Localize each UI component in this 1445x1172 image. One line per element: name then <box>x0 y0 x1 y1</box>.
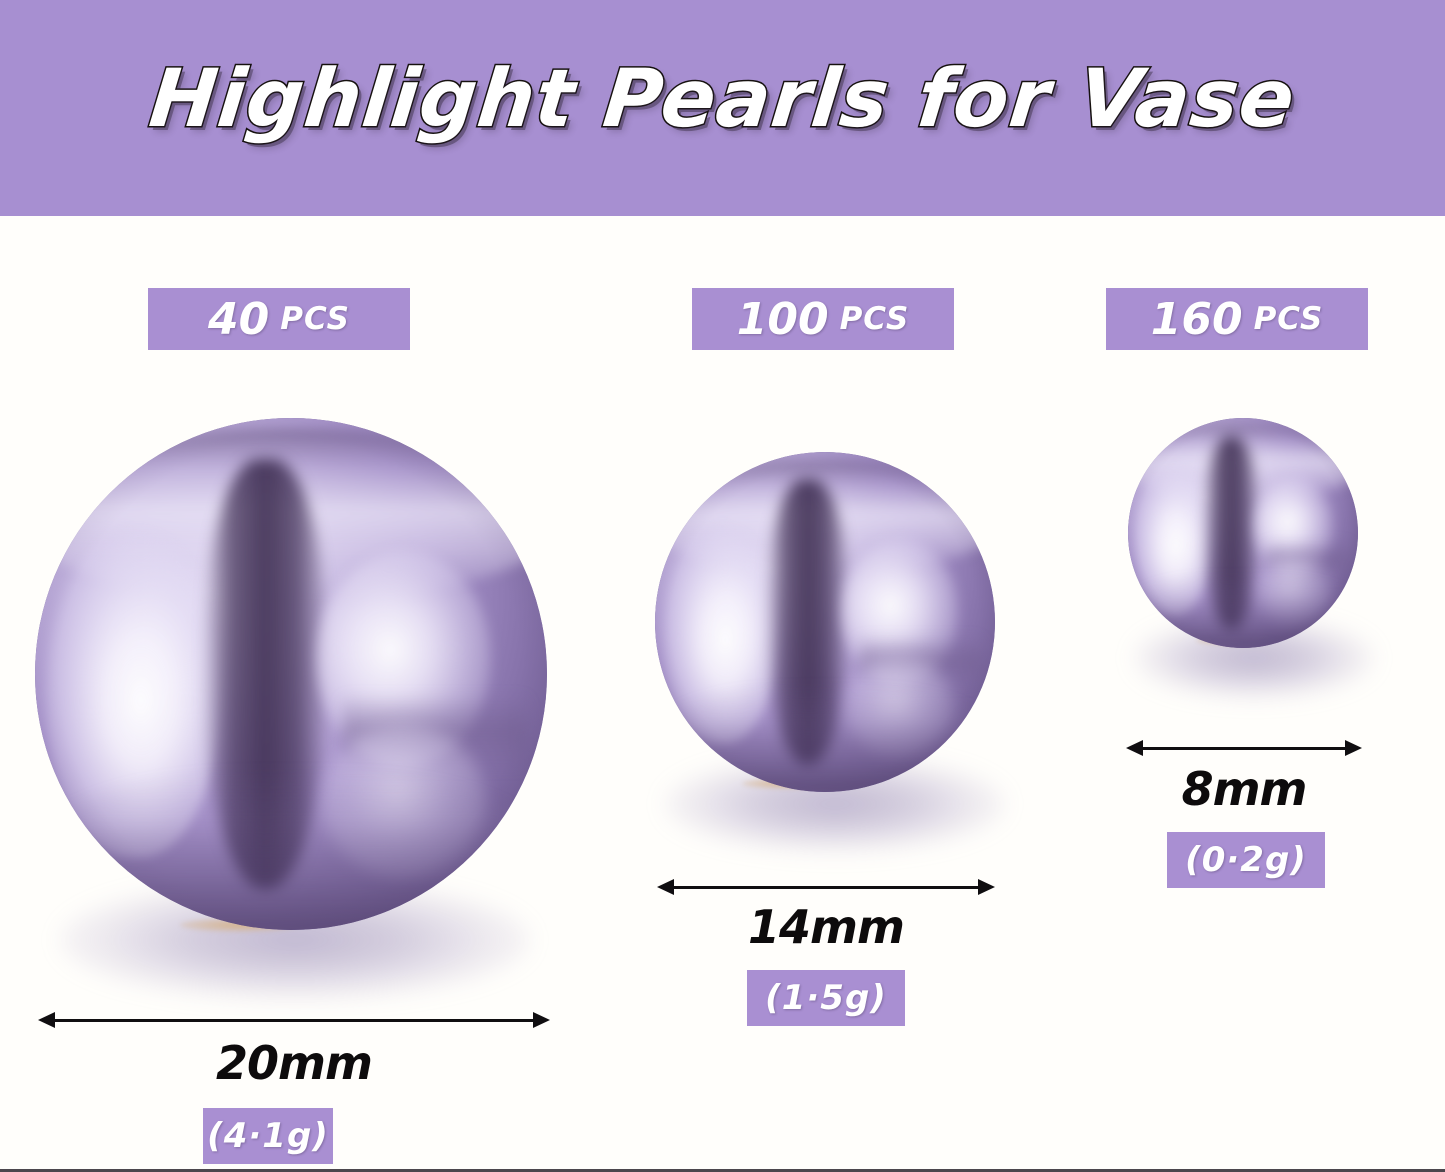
count-number-8mm: 160 <box>1151 294 1243 345</box>
dimension-arrow-8mm <box>1126 736 1362 760</box>
count-unit-20mm: PCS <box>280 301 350 337</box>
arrow-line <box>1136 747 1352 750</box>
dimension-arrow-14mm <box>657 875 995 899</box>
arrow-head-right-icon <box>533 1012 550 1028</box>
count-unit-14mm: PCS <box>840 301 910 337</box>
count-badge-20mm: 40 PCS <box>148 288 410 350</box>
pearl-rim-vignette <box>655 452 995 792</box>
count-badge-14mm: 100 PCS <box>692 288 954 350</box>
arrow-head-right-icon <box>978 879 995 895</box>
header-banner: Highlight Pearls for Vase <box>0 0 1445 216</box>
weight-badge-20mm: (4·1g) <box>203 1108 333 1164</box>
weight-badge-14mm: (1·5g) <box>747 970 905 1026</box>
count-number-20mm: 40 <box>208 294 269 345</box>
diameter-label-20mm: 20mm <box>38 1036 550 1090</box>
page-title: Highlight Pearls for Vase <box>0 52 1445 145</box>
pearl-sphere-20mm <box>35 418 547 930</box>
diameter-label-8mm: 8mm <box>1126 762 1362 816</box>
pearl-rim-vignette <box>1128 418 1358 648</box>
dimension-arrow-20mm <box>38 1008 550 1032</box>
diameter-label-14mm: 14mm <box>657 900 995 954</box>
pearl-sphere-14mm <box>655 452 995 792</box>
count-unit-8mm: PCS <box>1254 301 1324 337</box>
arrow-line <box>667 886 985 889</box>
weight-badge-8mm: (0·2g) <box>1167 832 1325 888</box>
pearl-sphere-8mm <box>1128 418 1358 648</box>
count-badge-8mm: 160 PCS <box>1106 288 1368 350</box>
pearl-rim-vignette <box>35 418 547 930</box>
arrow-head-right-icon <box>1345 740 1362 756</box>
arrow-line <box>48 1019 540 1022</box>
product-infographic: Highlight Pearls for Vase 40 PCS 20mm (4… <box>0 0 1445 1172</box>
count-number-14mm: 100 <box>737 294 829 345</box>
